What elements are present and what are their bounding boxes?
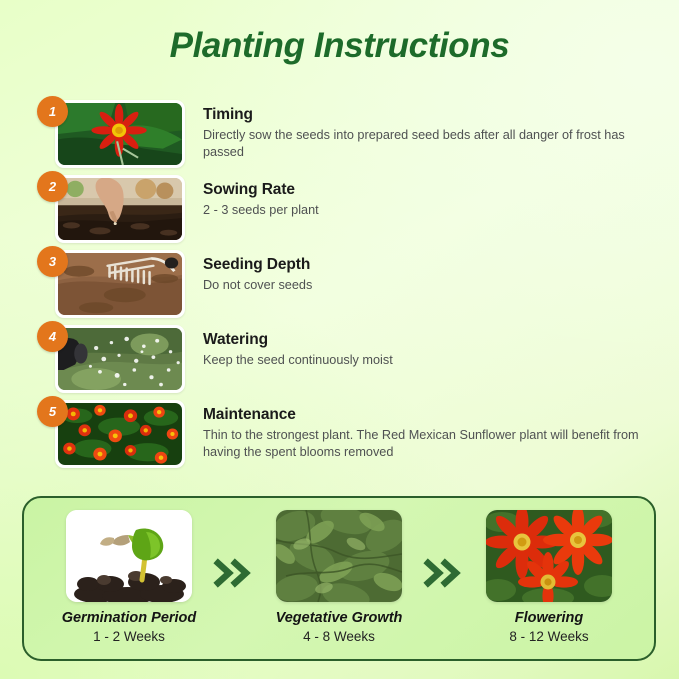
page-title: Planting Instructions xyxy=(0,26,679,66)
red-mexican-sunflower-bloom-photo xyxy=(58,103,182,165)
rake-on-brown-soil-photo xyxy=(58,253,182,315)
list-item: 5 Maintenance Thin to the strongest plan… xyxy=(0,398,679,473)
stage-duration: 1 - 2 Weeks xyxy=(50,629,208,644)
step-text: Watering Keep the seed continuously mois… xyxy=(203,331,639,369)
step-body: Do not cover seeds xyxy=(203,277,639,294)
list-item: 1 Timing Directly sow the seeds into pre… xyxy=(0,98,679,173)
double-chevron-right-icon xyxy=(421,558,467,588)
growth-timeline-panel: Germination Period 1 - 2 Weeks xyxy=(22,496,656,661)
step-number-badge: 1 xyxy=(37,96,68,127)
step-heading: Watering xyxy=(203,331,639,349)
step-text: Maintenance Thin to the strongest plant.… xyxy=(203,406,639,460)
step-text: Seeding Depth Do not cover seeds xyxy=(203,256,639,294)
sprouting-seedling-photo xyxy=(66,510,192,602)
step-thumbnail xyxy=(55,400,185,468)
stage-name: Germination Period xyxy=(50,610,208,626)
growth-stage-vegetative: Vegetative Growth 4 - 8 Weeks xyxy=(260,510,418,644)
step-number-badge: 2 xyxy=(37,171,68,202)
step-body: Thin to the strongest plant. The Red Mex… xyxy=(203,427,639,460)
step-thumbnail xyxy=(55,175,185,243)
step-body: 2 - 3 seeds per plant xyxy=(203,202,639,219)
list-item: 3 Seeding Depth Do not cover seeds xyxy=(0,248,679,323)
stage-name: Vegetative Growth xyxy=(260,610,418,626)
stage-duration: 4 - 8 Weeks xyxy=(260,629,418,644)
step-thumbnail xyxy=(55,100,185,168)
step-number-badge: 3 xyxy=(37,246,68,277)
hand-sowing-seeds-in-soil-photo xyxy=(58,178,182,240)
planting-instructions-infographic: Planting Instructions xyxy=(0,0,679,679)
open-red-flowers-photo xyxy=(486,510,612,602)
growth-stage-germination: Germination Period 1 - 2 Weeks xyxy=(50,510,208,644)
step-body: Keep the seed continuously moist xyxy=(203,352,639,369)
step-body: Directly sow the seeds into prepared see… xyxy=(203,127,639,160)
step-heading: Sowing Rate xyxy=(203,181,639,199)
list-item: 4 Watering Keep the seed continuously mo… xyxy=(0,323,679,398)
list-item: 2 Sowing Rate 2 - 3 seeds per plant xyxy=(0,173,679,248)
step-number-badge: 5 xyxy=(37,396,68,427)
step-heading: Timing xyxy=(203,106,639,124)
green-foliage-photo xyxy=(276,510,402,602)
growth-stages: Germination Period 1 - 2 Weeks xyxy=(24,498,654,659)
step-thumbnail xyxy=(55,325,185,393)
field-of-red-orange-flowers-photo xyxy=(58,403,182,465)
step-heading: Maintenance xyxy=(203,406,639,424)
double-chevron-right-icon xyxy=(211,558,257,588)
step-heading: Seeding Depth xyxy=(203,256,639,274)
step-text: Timing Directly sow the seeds into prepa… xyxy=(203,106,639,160)
step-text: Sowing Rate 2 - 3 seeds per plant xyxy=(203,181,639,219)
steps-list: 1 Timing Directly sow the seeds into pre… xyxy=(0,98,679,473)
growth-stage-flowering: Flowering 8 - 12 Weeks xyxy=(470,510,628,644)
stage-name: Flowering xyxy=(470,610,628,626)
step-thumbnail xyxy=(55,250,185,318)
step-number-badge: 4 xyxy=(37,321,68,352)
stage-duration: 8 - 12 Weeks xyxy=(470,629,628,644)
hose-spraying-water-photo xyxy=(58,328,182,390)
